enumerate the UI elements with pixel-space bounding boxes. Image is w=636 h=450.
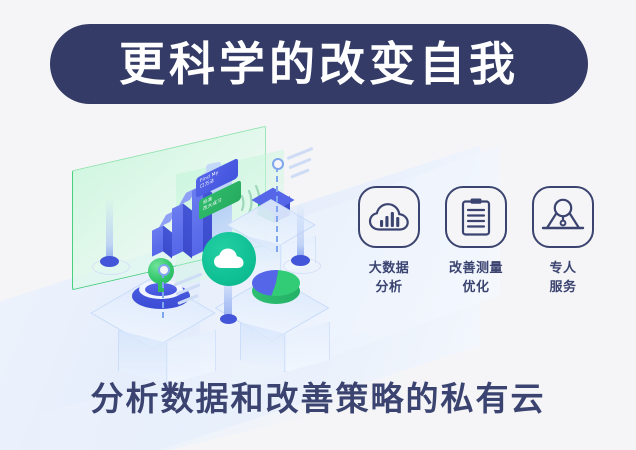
feature-label-measurement-optimization: 改善测量 优化 [449, 259, 503, 297]
footer-tagline: 分析数据和改善策略的私有云 [0, 382, 636, 415]
feature-label-big-data-analysis: 大数据 分析 [369, 259, 410, 297]
iso-bar-2 [172, 203, 183, 256]
clipboard-icon [445, 186, 507, 248]
light-beam-right-base [291, 255, 310, 266]
feature-big-data-analysis[interactable]: 大数据 分析 [352, 186, 426, 297]
page-title: 更科学的改变自我 [119, 41, 519, 87]
light-beam-right [297, 203, 304, 258]
pie-chart-icon [252, 268, 300, 308]
light-beam-left [106, 198, 113, 260]
feature-label-dedicated-service: 专人 服务 [549, 259, 576, 297]
feature-measurement-optimization[interactable]: 改善测量 优化 [439, 186, 513, 297]
cloud-badge-base [220, 314, 237, 324]
feature-list: 大数据 分析 改善测量 优化 [352, 186, 600, 297]
connector-dot-1 [272, 158, 284, 170]
cloud-icon [202, 232, 256, 286]
poster-canvas: 更科学的改变自我 [0, 0, 636, 450]
dashed-connector-1 [276, 166, 278, 252]
cloud-badge-stem [224, 284, 232, 318]
feature-dedicated-service[interactable]: 专人 服务 [526, 186, 600, 297]
dashed-connector-2 [162, 272, 164, 318]
data-line-3 [290, 168, 310, 178]
cloud-bar-chart-icon [358, 186, 420, 248]
light-beam-left-base [100, 256, 119, 267]
title-banner: 更科学的改变自我 [50, 24, 588, 104]
service-agent-icon [532, 186, 594, 248]
iso-bar-1 [152, 225, 163, 256]
connector-dot-2 [158, 264, 170, 276]
